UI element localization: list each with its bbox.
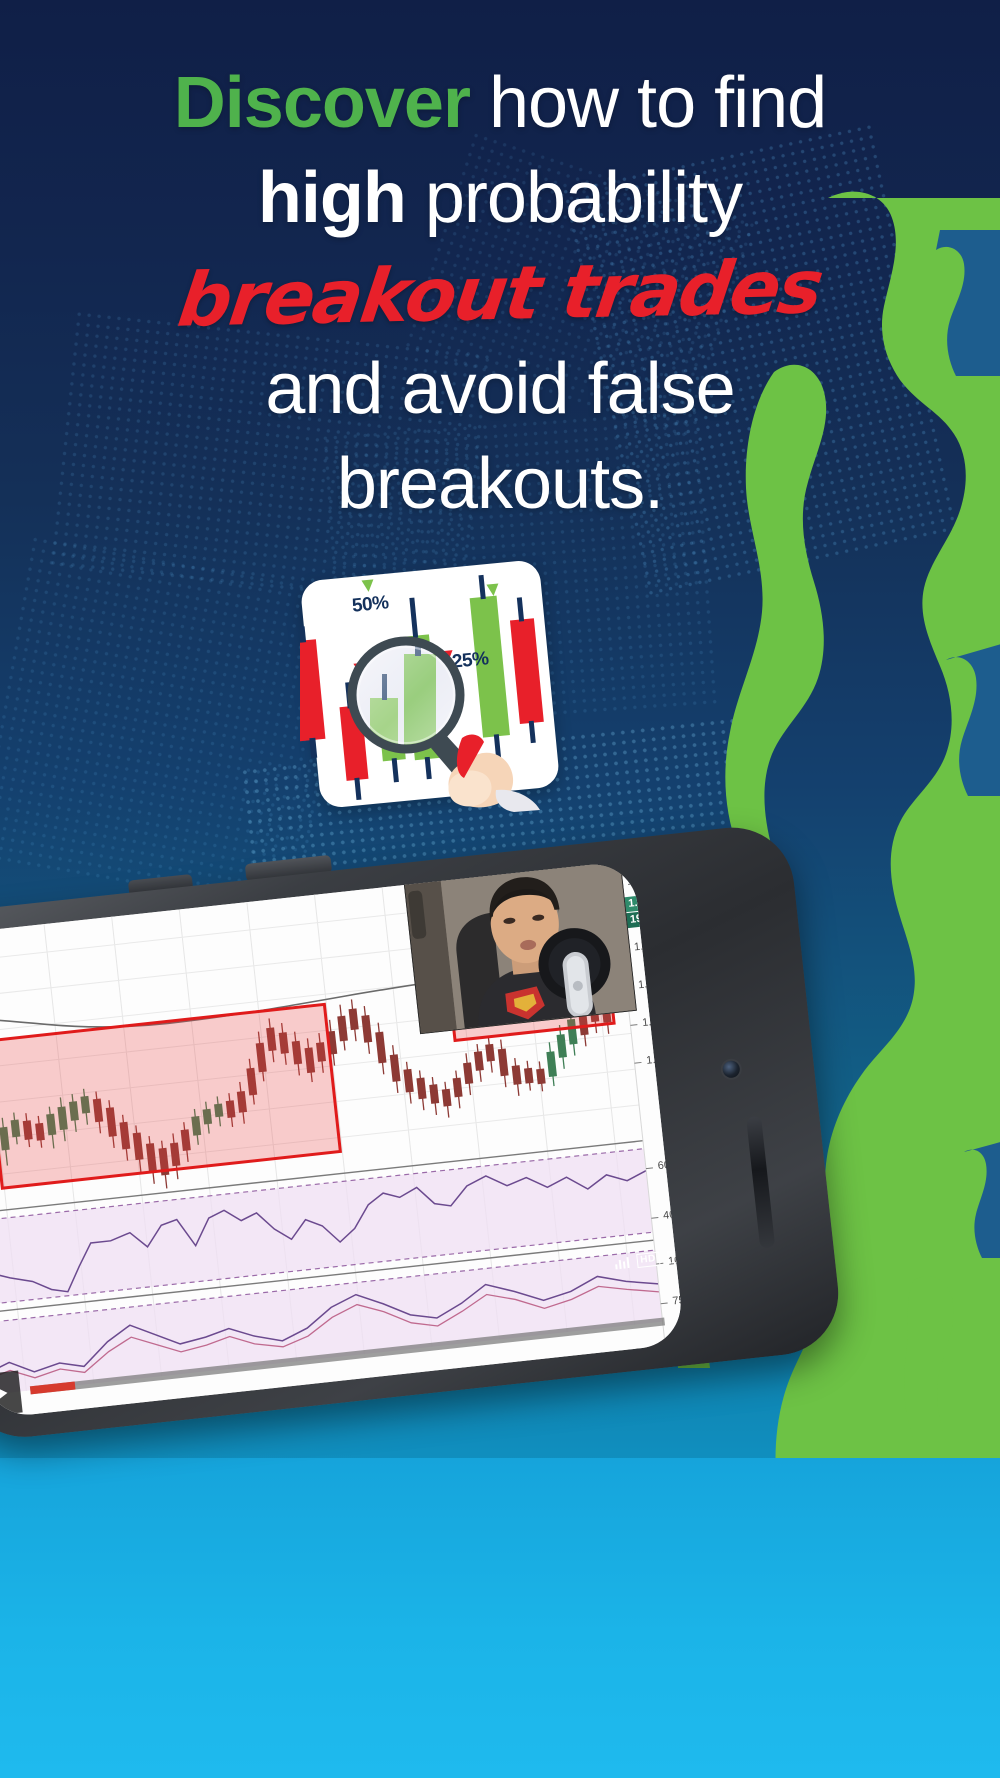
smartphone-mockup: 1.110 1.100 1.095 1.090 1.085 60.00 40.0… — [0, 787, 891, 1503]
headline-line-1: Discover how to find — [0, 56, 1000, 151]
play-button[interactable] — [0, 1371, 23, 1417]
fullscreen-icon[interactable] — [667, 1250, 680, 1263]
hd-badge[interactable]: HD — [636, 1252, 661, 1268]
video-progress-fill — [30, 1382, 75, 1395]
headline-block: Discover how to find high probability br… — [0, 56, 1000, 532]
headline-line-4: and avoid false — [0, 342, 1000, 437]
front-camera-icon — [722, 1060, 741, 1079]
headline-line-3-script: breakout trades — [0, 236, 1000, 353]
bottom-color-band — [0, 1458, 1000, 1778]
indicator-tick-75: 75.00 — [672, 1293, 685, 1308]
closed-captions-icon[interactable] — [614, 1257, 629, 1269]
headline-word-high: high — [258, 158, 406, 238]
headline-word-discover: Discover — [174, 63, 470, 143]
trading-chart[interactable]: 1.110 1.100 1.095 1.090 1.085 60.00 40.0… — [0, 860, 685, 1419]
phone-body: 1.110 1.100 1.095 1.090 1.085 60.00 40.0… — [0, 821, 845, 1443]
candle-countdown-badge: 19:59 — [624, 909, 664, 928]
indicator-tick-50: 50.00 — [676, 1332, 685, 1347]
indicator-tick-40: 40.00 — [663, 1207, 686, 1222]
presenter-webcam-overlay — [403, 860, 637, 1034]
price-tick-4: 1.085 — [646, 1052, 675, 1067]
indicator-tick-60: 60.00 — [657, 1157, 685, 1172]
price-tick-0: 1.110 — [626, 873, 654, 888]
hand-icon — [449, 735, 541, 812]
phone-screen[interactable]: 1.110 1.100 1.095 1.090 1.085 60.00 40.0… — [0, 860, 685, 1419]
promo-banner: Discover how to find high probability br… — [0, 0, 1000, 1778]
candlestick-illustration: 50% 25% — [300, 562, 570, 812]
price-tick-1: 1.100 — [633, 939, 662, 954]
headline-line-2: high probability — [0, 151, 1000, 246]
price-tick-3: 1.090 — [642, 1014, 671, 1029]
headline-line-1-rest: how to find — [470, 63, 826, 143]
earpiece-speaker — [746, 1116, 775, 1249]
play-icon — [0, 1385, 8, 1402]
headline-line-2-rest: probability — [406, 158, 742, 238]
magnifying-glass-icon — [300, 562, 570, 812]
current-price-badge: 1.106 — [623, 893, 662, 912]
headline-line-5: breakouts. — [0, 437, 1000, 532]
price-tick-2: 1.095 — [638, 976, 667, 991]
